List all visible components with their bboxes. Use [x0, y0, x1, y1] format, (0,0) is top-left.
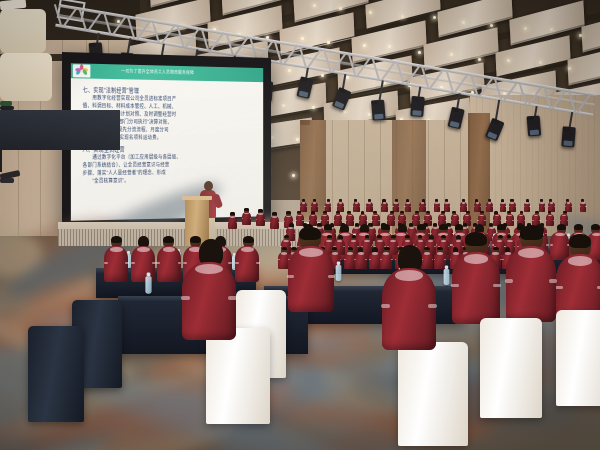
- attendee: [434, 202, 441, 212]
- attendee-hair: [507, 235, 512, 238]
- attendee-hair: [415, 211, 419, 213]
- attendee-collar: [163, 247, 175, 252]
- attendee-collar: [437, 252, 443, 254]
- attendee-hair: [574, 224, 583, 230]
- attendee-shirt: [380, 252, 392, 269]
- attendee-shirt: [182, 262, 236, 340]
- attendee-collar: [562, 215, 566, 217]
- attendee-collar: [453, 215, 457, 217]
- chair-dark-cover: [28, 326, 84, 422]
- microphone-stand: [0, 150, 2, 172]
- attendee-sleeve-trim: [228, 296, 237, 300]
- attendee-sleeve-trim: [264, 219, 265, 220]
- attendee-hair: [352, 235, 357, 238]
- attendee-collar: [406, 202, 410, 203]
- attendee-collar: [501, 202, 505, 203]
- attendee-sleeve-trim: [320, 220, 321, 221]
- attendee-sleeve-trim: [430, 220, 431, 221]
- attendee: [228, 216, 237, 229]
- attendee-collar: [568, 256, 593, 265]
- attendee-shirt: [434, 202, 441, 212]
- attendee-shirt: [393, 202, 400, 212]
- attendee-sleeve-trim: [539, 220, 540, 221]
- attendee-trousers: [0, 9, 46, 53]
- attendee-hair: [563, 211, 567, 213]
- attendee-hair: [323, 211, 327, 213]
- attendee-collar: [394, 202, 398, 203]
- attendee-collar: [311, 215, 315, 217]
- attendee-collar: [441, 240, 447, 242]
- attendee: [506, 246, 556, 322]
- attendee-sleeve-trim: [532, 220, 533, 221]
- attendee-sleeve-trim: [423, 220, 424, 221]
- attendee-hair: [591, 224, 600, 230]
- attendee-collar: [495, 215, 499, 217]
- attendee-hair: [355, 223, 359, 226]
- attendee-sleeve-trim: [567, 220, 568, 221]
- attendee-collar: [361, 215, 365, 217]
- attendee-sleeve-trim: [405, 220, 406, 221]
- attendee-sleeve-trim: [524, 220, 525, 221]
- attendee-hair: [445, 199, 448, 201]
- attendee-hair: [520, 225, 543, 240]
- attendee-sleeve-trim: [505, 220, 506, 221]
- attendee-collar: [354, 227, 359, 229]
- attendee-collar: [507, 240, 513, 242]
- attendee-sleeve-trim: [378, 220, 379, 221]
- attendee-hair: [302, 199, 305, 201]
- attendee-hair: [284, 235, 289, 238]
- attendee-collar: [507, 215, 511, 217]
- attendee-collar: [288, 227, 293, 229]
- attendee-sleeve-trim: [555, 286, 563, 290]
- attendee: [382, 268, 436, 350]
- attendee-collar: [395, 270, 423, 281]
- attendee-hair: [426, 211, 430, 213]
- attendee-sleeve-trim: [353, 220, 354, 221]
- attendee-hair: [507, 211, 511, 213]
- attendee-shirt: [546, 214, 554, 226]
- attendee-collar: [592, 233, 600, 237]
- attendee-sleeve-trim: [343, 246, 345, 247]
- attendee-hair: [354, 199, 357, 201]
- attendee-collar: [465, 215, 469, 217]
- attendee-hair: [347, 211, 351, 213]
- attendee-collar: [244, 213, 249, 215]
- attendee: [270, 216, 279, 229]
- attendee-hair: [462, 199, 465, 201]
- attendee-hair: [435, 199, 438, 201]
- attendee-hair: [452, 211, 456, 213]
- attendee-sleeve-trim: [381, 304, 390, 308]
- attendee: [157, 246, 181, 282]
- attendee-collar: [326, 202, 330, 203]
- attendee-collar: [299, 248, 323, 257]
- attendee-hair: [441, 211, 445, 213]
- attendee-sleeve-trim: [500, 220, 501, 221]
- attendee-hair: [258, 209, 262, 212]
- attendee: [131, 246, 155, 282]
- attendee-collar: [440, 215, 444, 217]
- attendee-collar: [409, 227, 414, 229]
- attendee-sleeve-trim: [470, 220, 471, 221]
- attendee-sleeve-trim: [553, 220, 554, 221]
- attendee-hair: [377, 235, 382, 238]
- attendee-collar: [548, 215, 552, 217]
- attendee-collar: [510, 202, 514, 203]
- attendee-collar: [302, 202, 306, 203]
- attendee: [486, 202, 493, 212]
- attendee-sleeve-trim: [328, 275, 335, 278]
- attendee-sleeve-trim: [431, 233, 432, 234]
- attendee-collar: [336, 215, 340, 217]
- attendee-collar: [488, 202, 492, 203]
- attendee-collar: [405, 240, 411, 242]
- attendee-collar: [337, 240, 343, 242]
- attendee-collar: [369, 227, 374, 229]
- attendee-shirt: [381, 202, 388, 212]
- attendee-collar: [281, 252, 287, 254]
- attendee-sleeve-trim: [295, 220, 296, 221]
- attendee-sleeve-trim: [131, 262, 135, 264]
- attendee: [182, 262, 236, 340]
- attendee-collar: [445, 202, 449, 203]
- attendee-collar: [433, 227, 438, 229]
- attendee-sleeve-trim: [451, 220, 452, 221]
- attendee-sleeve-trim: [484, 220, 485, 221]
- attendee-shirt: [405, 202, 412, 212]
- attendee-sleeve-trim: [451, 284, 459, 288]
- attendee-hair: [455, 224, 464, 230]
- attendee-hair: [405, 235, 410, 238]
- attendee-sleeve-trim: [316, 220, 317, 221]
- attendee-collar: [540, 202, 544, 203]
- attendee: [372, 214, 380, 226]
- attendee-collar: [555, 233, 565, 237]
- attendee-shirt: [506, 246, 556, 322]
- attendee-sleeve-trim: [428, 304, 437, 308]
- attendee: [405, 202, 412, 212]
- attendee-sleeve-trim: [505, 279, 513, 283]
- attendee-shirt: [366, 202, 373, 212]
- attendee-sleeve-trim: [371, 220, 372, 221]
- attendee-hair: [368, 199, 371, 201]
- attendee-hair: [433, 223, 437, 226]
- attendee-sleeve-trim: [546, 220, 547, 221]
- attendee-hair: [418, 235, 423, 238]
- attendee-collar: [534, 215, 538, 217]
- attendee-collar: [348, 215, 352, 217]
- attendee-hair: [409, 223, 413, 226]
- attendee-sleeve-trim: [394, 220, 395, 221]
- attendee-sleeve-trim: [286, 233, 287, 234]
- attendee-collar: [137, 247, 149, 252]
- attendee-sleeve-trim: [512, 220, 513, 221]
- attendee-collar: [424, 252, 430, 254]
- attendee-hair: [569, 234, 591, 248]
- attendee-hair: [163, 236, 174, 243]
- attendee-shirt: [355, 252, 367, 269]
- attendee-sleeve-trim: [292, 221, 293, 222]
- attendee-collar: [195, 264, 223, 274]
- attendee-collar: [389, 215, 393, 217]
- attendee-shirt: [372, 214, 380, 226]
- attendee-sleeve-trim: [256, 262, 260, 264]
- attendee-collar: [373, 215, 377, 217]
- attendee-shirt: [421, 252, 433, 269]
- attendee-collar: [377, 240, 383, 242]
- attendee-hair: [286, 211, 290, 214]
- attendee-collar: [272, 216, 277, 218]
- attendee-sleeve-trim: [549, 279, 557, 283]
- attendee-collar: [428, 240, 434, 242]
- attendee-collar: [364, 240, 370, 242]
- attendee-hair: [243, 236, 254, 243]
- attendee-sleeve-trim: [493, 284, 501, 288]
- attendee-collar: [421, 202, 425, 203]
- attendee-sleeve-trim: [125, 262, 129, 264]
- attendee-collar: [476, 202, 480, 203]
- attendee-hair: [381, 224, 390, 230]
- chair-white-cover: [480, 318, 542, 418]
- attendee-collar: [390, 240, 396, 242]
- attendee-hair: [272, 212, 276, 215]
- attendee-hair: [299, 227, 320, 241]
- attendee-hair: [424, 247, 430, 251]
- attendee-collar: [400, 215, 404, 217]
- attendee-hair: [493, 247, 499, 251]
- chair-white-cover: [206, 328, 270, 424]
- attendee-collar: [241, 247, 253, 252]
- attendee-collar: [230, 216, 235, 218]
- attendee-sleeve-trim: [178, 262, 182, 264]
- water-bottle: [444, 269, 450, 285]
- attendee-hair: [437, 247, 443, 251]
- attendee-hair: [439, 224, 448, 230]
- attendee-shirt: [256, 213, 265, 226]
- attendee-sleeve-trim: [488, 246, 490, 247]
- attendee-hair: [497, 224, 506, 230]
- attendee: [381, 202, 388, 212]
- attendee-sleeve-trim: [477, 220, 478, 221]
- attendee-hair: [581, 199, 584, 201]
- attendee-hair: [190, 236, 201, 243]
- attendee-collar: [456, 240, 462, 242]
- attendee-sleeve-trim: [302, 220, 303, 221]
- attendee-collar: [355, 202, 359, 203]
- attendee: [104, 246, 128, 282]
- attendee-shirt: [500, 202, 507, 212]
- attendee-collar: [479, 215, 483, 217]
- attendee-shirt: [104, 246, 128, 282]
- attendee-hair: [463, 223, 467, 226]
- attendee: [452, 252, 500, 324]
- attendee-shirt: [539, 202, 546, 212]
- attendee-collar: [383, 252, 389, 254]
- attendee: [288, 246, 334, 312]
- attendee-hair: [520, 211, 524, 213]
- attendee-sleeve-trim: [560, 220, 561, 221]
- attendee-shirt: [486, 202, 493, 212]
- attendee-hair: [417, 224, 426, 230]
- attendee-sleeve-trim: [294, 233, 295, 234]
- attendee-hair: [390, 211, 394, 213]
- attendee-hair: [282, 247, 288, 251]
- attendee-collar: [550, 202, 554, 203]
- attendee-sleeve-trim: [366, 220, 367, 221]
- attendee-sleeve-trim: [419, 220, 420, 221]
- attendee-shirt: [382, 268, 436, 350]
- attendee-hair: [297, 211, 301, 213]
- attendee-collar: [351, 240, 357, 242]
- attendee: [256, 213, 265, 226]
- attendee-hair: [244, 208, 248, 211]
- attendee-hair: [384, 247, 390, 251]
- attendee-sleeve-trim: [278, 222, 279, 223]
- attendee-hair: [336, 211, 340, 213]
- attendee-hair: [548, 211, 552, 213]
- attendee-collar: [286, 216, 291, 218]
- attendee-collar: [367, 202, 371, 203]
- attendee-hair: [466, 211, 470, 213]
- attendee-collar: [326, 240, 332, 242]
- attendee-hair: [327, 235, 332, 238]
- attendee-collar: [581, 202, 585, 203]
- attendee-hair: [373, 211, 377, 213]
- attendee: [355, 252, 367, 269]
- attendee: [500, 202, 507, 212]
- attendee-hair: [324, 224, 333, 230]
- attendee-hair: [327, 199, 330, 201]
- attendee-sleeve-trim: [309, 220, 310, 221]
- attendee: [421, 252, 433, 269]
- attendee-trousers: [0, 53, 52, 101]
- attendee-collar: [497, 240, 503, 242]
- attendee-collar: [283, 240, 289, 242]
- attendee-hair: [365, 235, 370, 238]
- attendee-collar: [258, 213, 263, 215]
- attendee-hair: [510, 199, 513, 201]
- attendee-hair: [489, 223, 493, 226]
- attendee: [380, 252, 392, 269]
- attendee-hair: [395, 199, 398, 201]
- water-bottle: [336, 265, 342, 281]
- attendee: [242, 212, 251, 225]
- attendee-hair: [535, 211, 539, 213]
- attendee: [366, 202, 373, 212]
- attendee-collar: [425, 215, 429, 217]
- attendee-shirt: [157, 246, 181, 282]
- attendee-hair: [313, 199, 316, 201]
- attendee-sleeve-trim: [250, 218, 251, 219]
- attendee-collar: [462, 202, 466, 203]
- attendee-hair: [549, 199, 552, 201]
- attendee-hair: [540, 199, 543, 201]
- attendee-shirt: [580, 202, 587, 212]
- attendee-sleeve-trim: [493, 220, 494, 221]
- attendee-hair: [488, 199, 491, 201]
- attendee-shirt: [242, 212, 251, 225]
- attendee-hair: [317, 223, 321, 226]
- attendee-hair: [339, 199, 342, 201]
- attendee-sleeve-trim: [327, 220, 328, 221]
- attendee-shirt: [270, 216, 279, 229]
- attendee-hair: [465, 232, 487, 246]
- attendee-hair: [557, 224, 566, 230]
- attendee: [353, 202, 360, 212]
- water-bottle: [145, 276, 151, 294]
- attendee-hair: [368, 223, 372, 226]
- attendee: [546, 214, 554, 226]
- attendee: [419, 202, 426, 212]
- attendee-sleeve-trim: [398, 220, 399, 221]
- attendee-hair: [566, 199, 569, 201]
- attendee-sleeve-trim: [346, 220, 347, 221]
- attendee-shirt: [419, 202, 426, 212]
- attendee-sleeve-trim: [236, 222, 237, 223]
- attendee-collar: [358, 252, 364, 254]
- attendee-sleeve-trim: [445, 220, 446, 221]
- attendee: [235, 246, 259, 282]
- attendee-hair: [480, 211, 484, 213]
- attendee-sleeve-trim: [104, 262, 108, 264]
- attendee-sleeve-trim: [156, 262, 160, 264]
- audience-area: [0, 0, 600, 450]
- attendee-sleeve-trim: [517, 220, 518, 221]
- chair-white-cover: [398, 342, 468, 446]
- attendee-shirt: [524, 202, 531, 212]
- attendee-sleeve-trim: [458, 220, 459, 221]
- attendee-shirt: [288, 246, 334, 312]
- attendee-collar: [418, 240, 424, 242]
- attendee-collar: [414, 215, 418, 217]
- attendee-shirt: [452, 252, 500, 324]
- attendee-collar: [435, 202, 439, 203]
- attendee-collar: [339, 202, 343, 203]
- attendee: [524, 202, 531, 212]
- attendee-collar: [489, 227, 494, 229]
- attendee-shirt: [131, 246, 155, 282]
- attendee-collar: [567, 202, 571, 203]
- attendee-hair: [391, 235, 396, 238]
- table-skirt-section: [0, 110, 120, 150]
- attendee-collar: [297, 215, 301, 217]
- attendee-shirt: [228, 216, 237, 229]
- attendee-sleeve-trim: [152, 262, 156, 264]
- attendee-collar: [519, 215, 523, 217]
- conference-hall-photo: 一切为了提升全体员工人员物资服务保障 七、实现“法制经营”管理 用数字化经营实现…: [0, 0, 600, 450]
- attendee-collar: [372, 252, 378, 254]
- attendee-collar: [110, 247, 122, 252]
- attendee-collar: [525, 202, 529, 203]
- chair-white-cover: [556, 310, 600, 406]
- attendee: [300, 202, 307, 212]
- attendee-hair: [111, 236, 122, 243]
- attendee-hair: [400, 211, 404, 213]
- attendee-collar: [518, 248, 544, 258]
- attendee-sleeve-trim: [341, 220, 342, 221]
- attendee: [393, 202, 400, 212]
- attendee-collar: [383, 202, 387, 203]
- attendee-shirt: [353, 202, 360, 212]
- attendee-hair: [441, 235, 446, 238]
- attendee-collar: [347, 252, 353, 254]
- attendee: [539, 202, 546, 212]
- attendee-hair: [348, 247, 354, 251]
- attendee-shirt: [300, 202, 307, 212]
- attendee-collar: [322, 215, 326, 217]
- attendee-hair: [230, 212, 234, 215]
